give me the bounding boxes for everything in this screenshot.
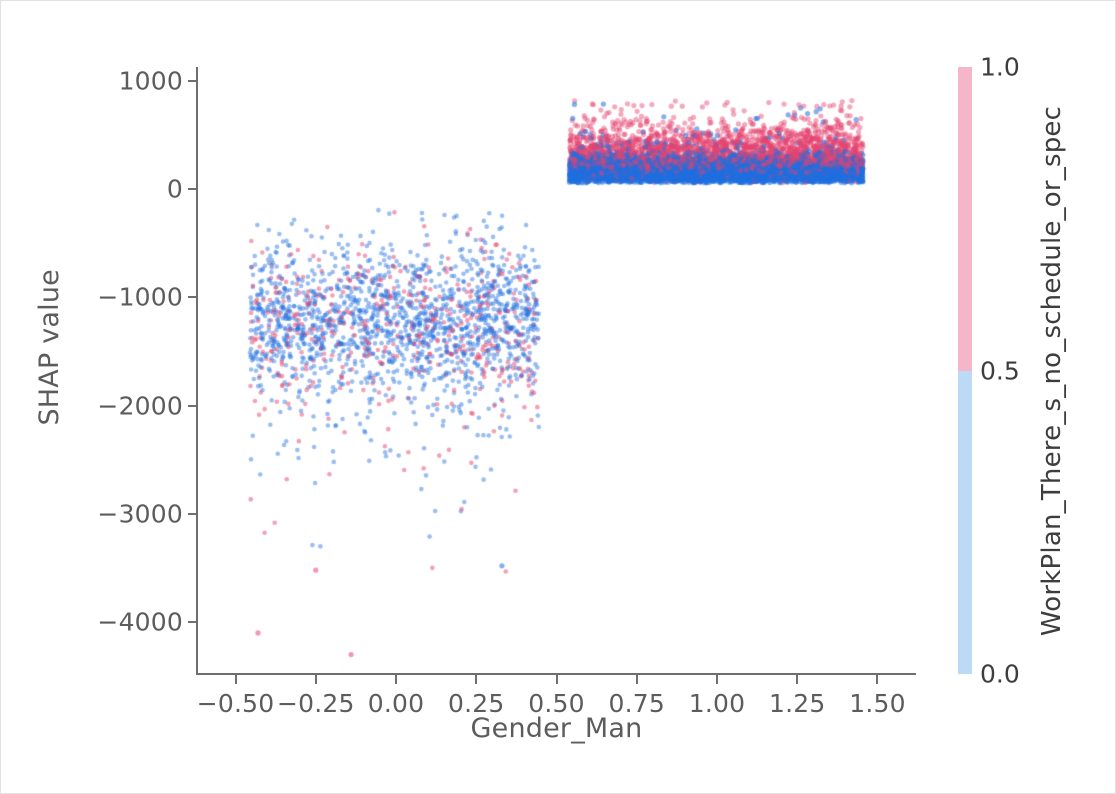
plot-area — [197, 67, 916, 674]
scatter-points-canvas — [197, 67, 916, 674]
colorbar-tick-label: 0.0 — [980, 660, 1020, 689]
y-axis-label: SHAP value — [34, 269, 65, 426]
y-tick-mark — [188, 405, 197, 407]
y-tick-mark — [188, 188, 197, 190]
y-tick-label: 0 — [167, 175, 183, 204]
x-tick-mark — [796, 675, 798, 684]
x-tick-mark — [235, 675, 237, 684]
x-axis-label: Gender_Man — [197, 713, 916, 744]
colorbar-high-band — [958, 67, 972, 371]
x-tick-mark — [395, 675, 397, 684]
y-tick-label: −3000 — [97, 499, 183, 528]
y-axis-spine — [196, 67, 198, 675]
colorbar-tick-label: 1.0 — [980, 53, 1020, 82]
y-tick-mark — [188, 296, 197, 298]
x-tick-mark — [716, 675, 718, 684]
x-tick-mark — [556, 675, 558, 684]
y-tick-mark — [188, 513, 197, 515]
colorbar-low-band — [958, 371, 972, 675]
y-tick-label: 1000 — [119, 67, 183, 96]
x-tick-mark — [315, 675, 317, 684]
colorbar — [958, 67, 972, 674]
x-tick-mark — [636, 675, 638, 684]
colorbar-tick-label: 0.5 — [980, 356, 1020, 385]
y-tick-label: −2000 — [97, 391, 183, 420]
y-tick-label: −1000 — [97, 283, 183, 312]
y-tick-label: −4000 — [97, 608, 183, 637]
y-tick-mark — [188, 80, 197, 82]
y-tick-mark — [188, 621, 197, 623]
colorbar-title: WorkPlan_There_s_no_schedule_or_spec — [1037, 106, 1067, 636]
x-tick-mark — [475, 675, 477, 684]
x-tick-mark — [876, 675, 878, 684]
shap-scatter-figure: 10000−1000−2000−3000−4000 −0.50−0.250.00… — [0, 0, 1116, 794]
